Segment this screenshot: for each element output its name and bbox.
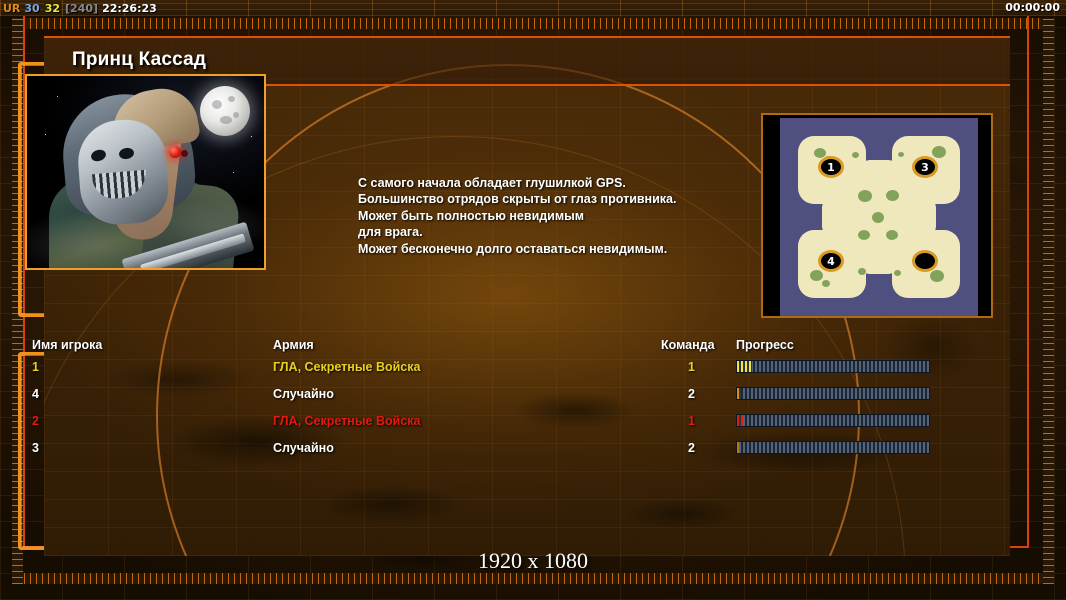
player-name: 1: [32, 360, 39, 374]
map-spawn-empty[interactable]: [912, 250, 938, 272]
hud-timer: 00:00:00: [1005, 1, 1060, 14]
page-title: Принц Кассад: [72, 49, 206, 71]
hud-grid-overlay: [0, 0, 1066, 16]
column-header-army: Армия: [273, 338, 314, 352]
player-army: Случайно: [273, 441, 334, 455]
player-army: Случайно: [273, 387, 334, 401]
general-description: С самого начала обладает глушилкой GPS. …: [358, 175, 676, 257]
hud-max-value: [240]: [65, 2, 98, 15]
window-top-accent: [44, 36, 1010, 38]
player-table-rows: 1ГЛА, Секретные Войска14Случайно22ГЛА, С…: [18, 355, 948, 463]
map-spawn-1[interactable]: 1: [818, 156, 844, 178]
player-team: 1: [688, 414, 695, 428]
hud-left-group: UR 30 32 [240] 22:26:23: [0, 2, 157, 15]
table-row[interactable]: 3Случайно2: [18, 436, 948, 463]
player-name: 3: [32, 441, 39, 455]
player-progress-bar: [736, 387, 930, 400]
player-progress-bar: [736, 360, 930, 373]
general-portrait: [25, 74, 266, 270]
hud-status-bar: UR 30 32 [240] 22:26:23 00:00:00: [0, 0, 1066, 16]
map-spawn-4[interactable]: 4: [818, 250, 844, 272]
table-row[interactable]: 2ГЛА, Секретные Войска1: [18, 409, 948, 436]
player-team: 2: [688, 441, 695, 455]
player-progress-fill: [737, 388, 741, 399]
column-header-team: Команда: [661, 338, 715, 352]
player-progress-bar: [736, 441, 930, 454]
resolution-caption: 1920 x 1080: [0, 548, 1066, 574]
player-progress-fill: [737, 442, 739, 453]
column-header-player: Имя игрока: [32, 338, 102, 352]
player-progress-fill: [737, 415, 743, 426]
player-name: 4: [32, 387, 39, 401]
player-army: ГЛА, Секретные Войска: [273, 414, 420, 428]
player-progress-bar: [736, 414, 930, 427]
table-row[interactable]: 1ГЛА, Секретные Войска1: [18, 355, 948, 382]
map-preview[interactable]: 1 3 4: [761, 113, 993, 318]
ruler-bottom: [12, 573, 1054, 584]
map-preview-surface: 1 3 4: [780, 118, 978, 317]
hud-fps-value: 30: [24, 2, 39, 15]
table-row[interactable]: 4Случайно2: [18, 382, 948, 409]
hud-ping-value: 32: [44, 2, 61, 15]
hud-clock: 22:26:23: [102, 2, 157, 15]
player-progress-fill: [737, 361, 752, 372]
player-team: 2: [688, 387, 695, 401]
ruler-right: [1043, 18, 1054, 584]
column-header-progress: Прогресс: [736, 338, 794, 352]
game-screen: UR 30 32 [240] 22:26:23 00:00:00 Принц К…: [0, 0, 1066, 600]
portrait-smoke: [27, 76, 264, 268]
player-army: ГЛА, Секретные Войска: [273, 360, 420, 374]
map-spawn-3[interactable]: 3: [912, 156, 938, 178]
player-team: 1: [688, 360, 695, 374]
player-name: 2: [32, 414, 39, 428]
hud-ur-label: UR: [3, 2, 20, 15]
